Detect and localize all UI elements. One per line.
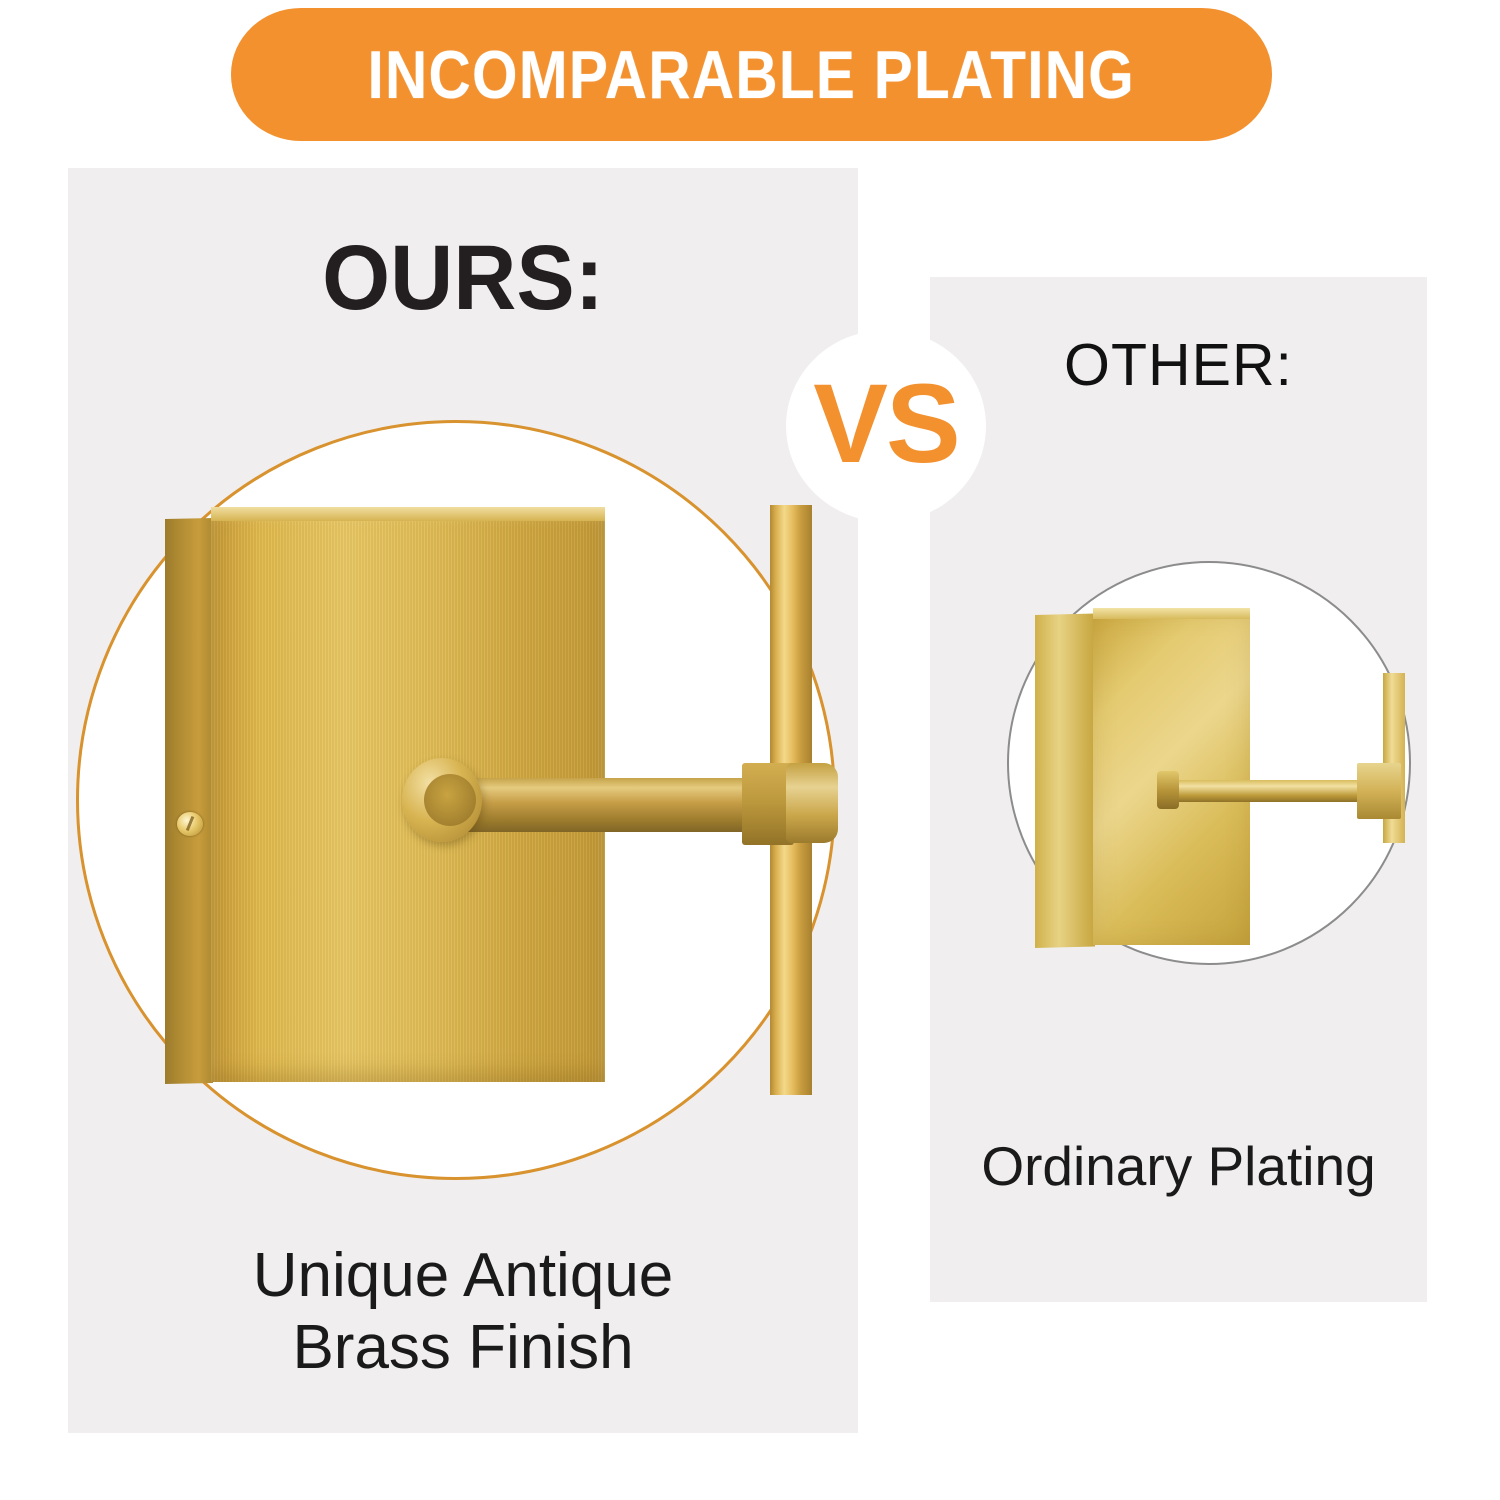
ours-rod-arm	[460, 778, 760, 832]
headline-banner-text: INCOMPARABLE PLATING	[368, 36, 1136, 114]
headline-banner: INCOMPARABLE PLATING	[231, 8, 1272, 141]
other-wall-plate	[1035, 608, 1250, 948]
ours-heading: OURS:	[88, 232, 839, 324]
ours-rod-collar-inner	[424, 774, 476, 826]
ours-caption-line-1: Unique Antique	[68, 1240, 858, 1312]
ours-screw-icon	[177, 812, 203, 836]
other-caption: Ordinary Plating	[930, 1136, 1427, 1197]
ours-wall-plate-top-bevel	[211, 507, 605, 521]
other-wall-plate-edge	[1035, 614, 1095, 948]
other-product-photo	[1005, 555, 1430, 1025]
other-pole-bracket	[1357, 763, 1401, 819]
other-wall-plate-top-bevel	[1093, 608, 1250, 619]
vs-badge: VS	[786, 330, 986, 522]
vs-badge-label: VS	[813, 368, 958, 480]
ours-rod-collar	[402, 758, 482, 842]
ours-pole-bracket-cap	[786, 763, 838, 843]
ours-product-photo	[70, 415, 856, 1185]
other-rod-arm	[1175, 780, 1370, 802]
other-heading: OTHER:	[930, 336, 1427, 395]
ours-wall-plate-edge	[165, 518, 213, 1084]
ours-caption: Unique Antique Brass Finish	[68, 1240, 858, 1384]
other-rod-collar	[1157, 771, 1179, 809]
ours-caption-line-2: Brass Finish	[68, 1312, 858, 1384]
